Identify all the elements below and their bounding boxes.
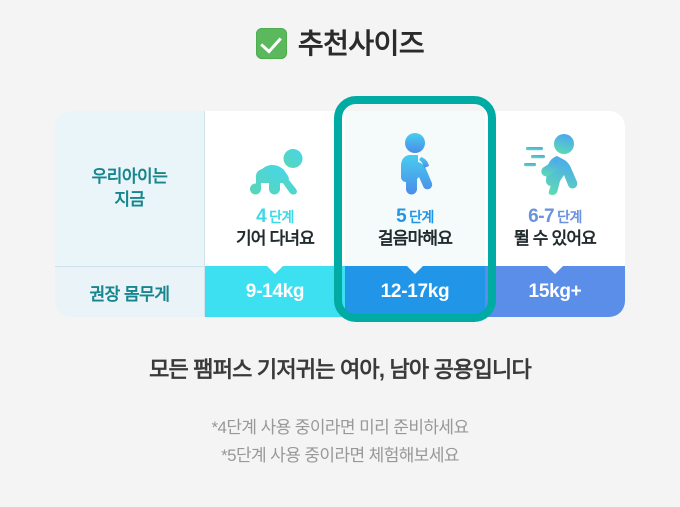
stage-4-line: 4 단계 [256, 207, 294, 226]
notch-icon [267, 266, 283, 274]
stage-5-weight-cell: 12-17kg [345, 266, 485, 317]
page-title: 추천사이즈 [298, 30, 424, 58]
stage-6-7-info-cell: 6-7 단계 뛸 수 있어요 [485, 111, 625, 266]
stage-6-7-line: 6-7 단계 [528, 207, 582, 226]
stage-5-number: 5 [396, 207, 406, 226]
stage-4-weight-cell: 9-14kg [205, 266, 345, 317]
table-label-column: 우리아이는 지금 권장 몸무게 [55, 111, 205, 317]
stage-5-line: 5 단계 [396, 207, 434, 226]
stage-row-label-cell: 우리아이는 지금 [55, 111, 205, 266]
notch-icon [547, 266, 563, 274]
walking-child-icon [393, 131, 437, 195]
stage-6-7-weight-cell: 15kg+ [485, 266, 625, 317]
size-column-stage-5[interactable]: 5 단계 걸음마해요 12-17kg [345, 111, 485, 317]
stage-6-7-unit: 단계 [557, 210, 582, 224]
page-title-row: 추천사이즈 [0, 28, 680, 59]
weight-row-label-cell: 권장 몸무게 [55, 266, 205, 317]
notch-icon [407, 266, 423, 274]
stage-5-description: 걸음마해요 [378, 230, 452, 247]
stage-row-label-line2: 지금 [114, 190, 144, 209]
stage-5-weight: 12-17kg [381, 281, 450, 303]
crawling-baby-icon [244, 131, 306, 195]
stage-4-number: 4 [256, 207, 266, 226]
stage-row-label-line1: 우리아이는 [92, 167, 168, 186]
footnotes: *4단계 사용 중이라면 미리 준비하세요 *5단계 사용 중이라면 체험해보세… [0, 414, 680, 470]
size-column-stage-6-7[interactable]: 6-7 단계 뛸 수 있어요 15kg+ [485, 111, 625, 317]
stage-6-7-number: 6-7 [528, 207, 554, 226]
stage-6-7-description: 뛸 수 있어요 [514, 230, 596, 247]
stage-5-info-cell: 5 단계 걸음마해요 [345, 111, 485, 266]
stage-4-unit: 단계 [269, 210, 294, 224]
weight-row-label: 권장 몸무게 [90, 280, 170, 305]
footnote-line-2: *5단계 사용 중이라면 체험해보세요 [0, 442, 680, 470]
stage-4-weight: 9-14kg [246, 281, 304, 303]
stage-5-unit: 단계 [409, 210, 434, 224]
stage-6-7-weight: 15kg+ [529, 281, 582, 303]
stage-4-info-cell: 4 단계 기어 다녀요 [205, 111, 345, 266]
size-column-stage-4[interactable]: 4 단계 기어 다녀요 9-14kg [205, 111, 345, 317]
main-caption: 모든 팸퍼스 기저귀는 여아, 남아 공용입니다 [0, 352, 680, 384]
stage-row-label: 우리아이는 지금 [92, 166, 168, 212]
footnote-line-1: *4단계 사용 중이라면 미리 준비하세요 [0, 414, 680, 442]
stage-4-description: 기어 다녀요 [236, 230, 314, 247]
green-check-icon [256, 28, 287, 59]
running-child-icon [524, 131, 586, 195]
size-recommendation-table: 우리아이는 지금 권장 몸무게 [55, 111, 625, 317]
